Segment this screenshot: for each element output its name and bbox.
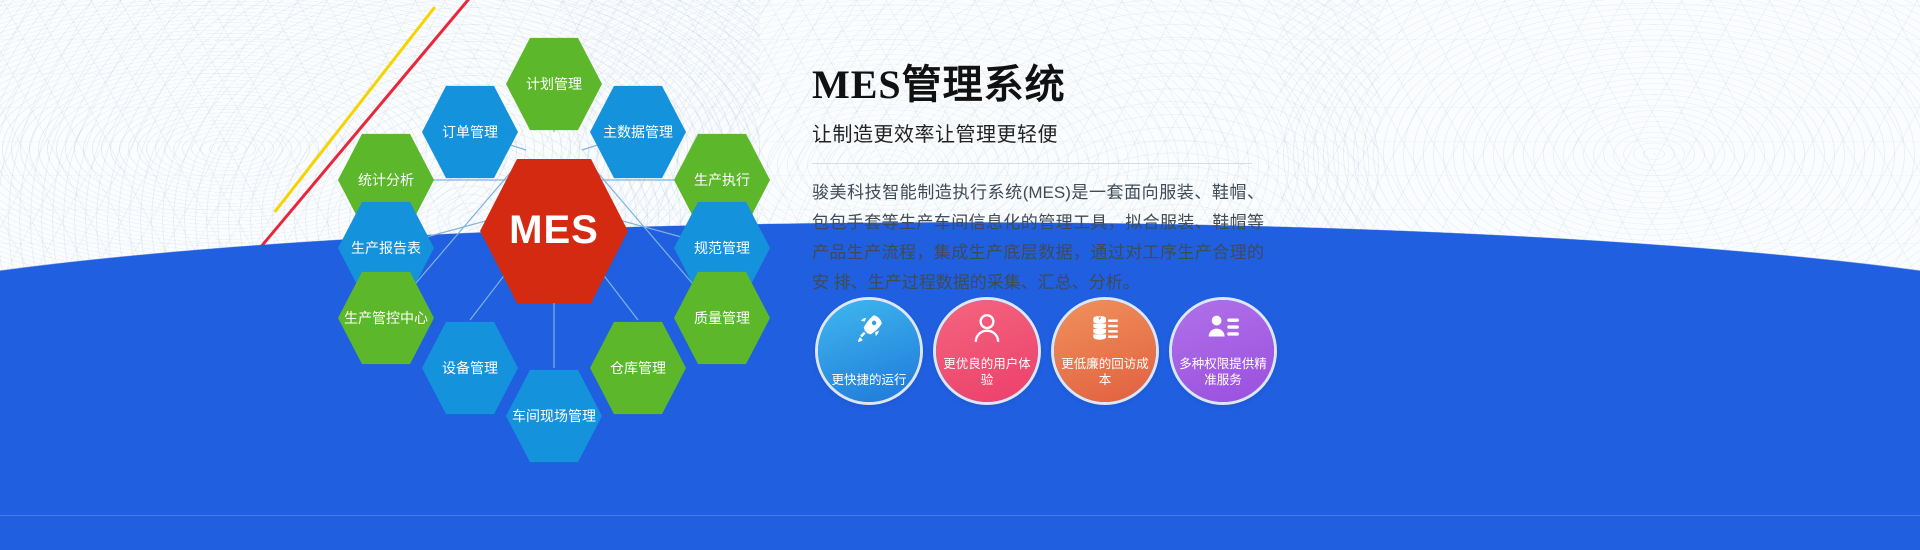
mes-banner: 计划管理 订单管理 主数据管理 统计分析 生产执行 生产报告表 规范管理 生产管… <box>0 0 1920 550</box>
feature-circle-list: 更快捷的运行 更优良的用户体验 <box>818 300 1274 402</box>
coins-icon: ¥ <box>1088 311 1122 345</box>
rocket-icon <box>852 311 886 345</box>
feature-label: 更快捷的运行 <box>823 372 915 388</box>
hex-label: 车间现场管理 <box>506 408 602 425</box>
feature-circle-faster-operation[interactable]: 更快捷的运行 <box>818 300 920 402</box>
feature-circle-better-ux[interactable]: 更优良的用户体验 <box>936 300 1038 402</box>
feature-label: 更优良的用户体验 <box>941 356 1033 388</box>
hex-label: 仓库管理 <box>604 360 672 377</box>
title-divider <box>812 163 1252 164</box>
page-title: MES管理系统 <box>812 52 1282 110</box>
description-paragraph: 骏美科技智能制造执行系统(MES)是一套面向服装、鞋帽、包包手套等生产车间信息化… <box>812 178 1264 298</box>
banner-text-block: MES管理系统 让制造更效率让管理更轻便 骏美科技智能制造执行系统(MES)是一… <box>812 52 1282 298</box>
blue-band-stripe <box>0 515 1920 516</box>
feature-label: 多种权限提供精准服务 <box>1177 356 1269 388</box>
hex-label: 生产管控中心 <box>338 310 434 327</box>
hex-label: 订单管理 <box>436 124 504 141</box>
hex-label: 设备管理 <box>436 360 504 377</box>
hex-label: 生产执行 <box>688 172 756 189</box>
hex-label: 规范管理 <box>688 240 756 257</box>
feature-label: 更低廉的回访成本 <box>1059 356 1151 388</box>
hex-label: 生产报告表 <box>345 240 427 257</box>
page-subtitle: 让制造更效率让管理更轻便 <box>812 118 1282 147</box>
mes-hexagon-diagram: 计划管理 订单管理 主数据管理 统计分析 生产执行 生产报告表 规范管理 生产管… <box>330 20 790 440</box>
feature-circle-lower-cost[interactable]: ¥ 更低廉的回访成本 <box>1054 300 1156 402</box>
hex-label: 质量管理 <box>688 310 756 327</box>
hex-label: 统计分析 <box>352 172 420 189</box>
hex-center-label: MES <box>503 207 605 254</box>
svg-text:¥: ¥ <box>1098 316 1101 322</box>
hex-label: 主数据管理 <box>597 124 679 141</box>
user-icon <box>970 311 1004 345</box>
user-list-icon <box>1206 311 1240 345</box>
hex-label: 计划管理 <box>520 76 588 93</box>
feature-circle-permissions[interactable]: 多种权限提供精准服务 <box>1172 300 1274 402</box>
